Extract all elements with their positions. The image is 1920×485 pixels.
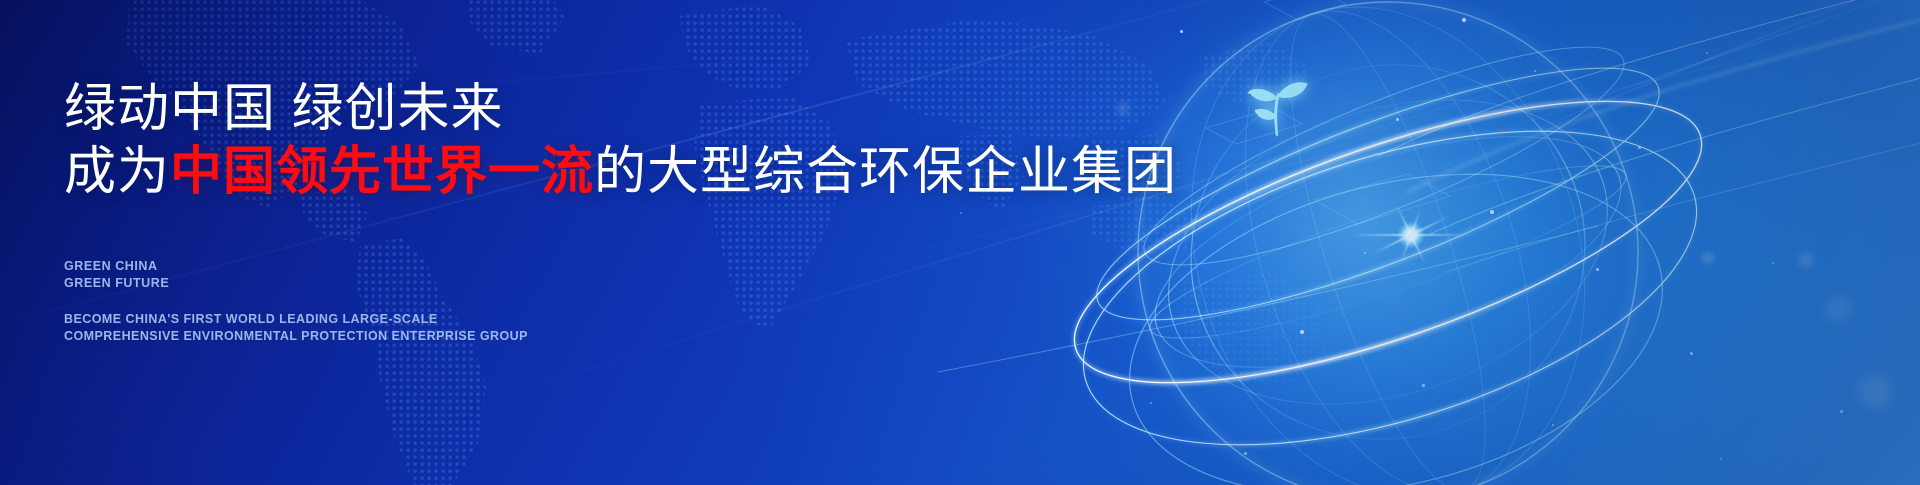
headline-line-2: 成为中国领先世界一流的大型综合环保企业集团 <box>64 141 1177 204</box>
headline-line2-highlight: 中国领先世界一流 <box>170 143 594 201</box>
tagline: GREEN CHINA GREEN FUTURE <box>64 258 169 291</box>
headline-line-1: 绿动中国 绿创未来 <box>64 80 503 138</box>
subline: BECOME CHINA'S FIRST WORLD LEADING LARGE… <box>64 311 528 344</box>
banner-content: 绿动中国 绿创未来 成为中国领先世界一流的大型综合环保企业集团 GREEN CH… <box>0 0 1920 485</box>
headline: 绿动中国 绿创未来 成为中国领先世界一流的大型综合环保企业集团 <box>64 78 1177 205</box>
subline-line-1: BECOME CHINA'S FIRST WORLD LEADING LARGE… <box>64 311 528 328</box>
tagline-line-1: GREEN CHINA <box>64 258 169 275</box>
tagline-line-2: GREEN FUTURE <box>64 275 169 292</box>
subline-line-2: COMPREHENSIVE ENVIRONMENTAL PROTECTION E… <box>64 328 528 345</box>
hero-banner: 绿动中国 绿创未来 成为中国领先世界一流的大型综合环保企业集团 GREEN CH… <box>0 0 1920 485</box>
headline-line2-suffix: 的大型综合环保企业集团 <box>594 143 1177 201</box>
headline-line2-prefix: 成为 <box>64 143 170 201</box>
